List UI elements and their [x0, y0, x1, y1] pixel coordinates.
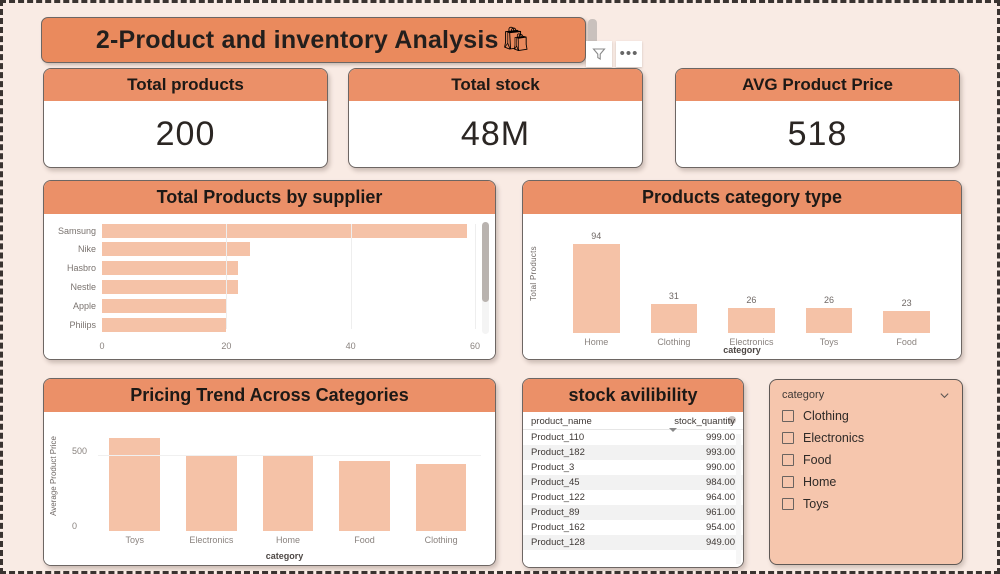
- category-column-value: 23: [883, 298, 930, 308]
- table-rows: Product_110999.00Product_182993.00Produc…: [523, 430, 743, 550]
- category-column[interactable]: 94Home: [573, 244, 620, 333]
- pricing-column[interactable]: Home: [263, 455, 314, 531]
- gridline: [226, 224, 227, 329]
- pricing-column-bar[interactable]: [186, 455, 237, 531]
- pricing-column-bar[interactable]: [339, 461, 390, 532]
- slicer-item-electronics[interactable]: Electronics: [782, 431, 950, 445]
- pricing-column[interactable]: Toys: [109, 438, 160, 531]
- cell-stock-quantity: 949.00: [651, 537, 735, 548]
- x-axis-title: category: [523, 345, 961, 355]
- supplier-bar-fill[interactable]: [102, 224, 467, 238]
- table-row[interactable]: Product_182993.00: [523, 445, 743, 460]
- x-axis-tick: 40: [346, 341, 356, 351]
- cell-stock-quantity: 990.00: [651, 462, 735, 473]
- checkbox-icon[interactable]: [782, 410, 794, 422]
- chart-title: Pricing Trend Across Categories: [44, 379, 495, 412]
- slicer-item-label: Toys: [803, 497, 829, 511]
- supplier-bar-label: Samsung: [58, 226, 96, 236]
- cell-product-name: Product_3: [531, 462, 651, 473]
- supplier-bar-fill[interactable]: [102, 318, 226, 332]
- slicer-item-label: Home: [803, 475, 836, 489]
- x-axis-title: category: [74, 551, 495, 561]
- category-column-bar[interactable]: [651, 304, 698, 333]
- kpi-value: 518: [676, 101, 959, 167]
- table-row[interactable]: Product_110999.00: [523, 430, 743, 445]
- slicer-item-label: Electronics: [803, 431, 864, 445]
- gridline: [475, 224, 476, 329]
- scrollbar-thumb[interactable]: [482, 222, 489, 302]
- supplier-bar-fill[interactable]: [102, 242, 250, 256]
- chevron-down-icon[interactable]: [939, 390, 950, 401]
- supplier-chart-scrollbar[interactable]: [482, 222, 489, 334]
- kpi-value: 48M: [349, 101, 642, 167]
- chart-pricing-trend-across-categories[interactable]: Pricing Trend Across Categories Average …: [43, 378, 496, 566]
- pricing-column-bar[interactable]: [109, 438, 160, 531]
- table-body-area: product_name stock_quantity Product_1109…: [523, 412, 743, 567]
- y-axis-tick: 0: [72, 521, 77, 531]
- slicer-header[interactable]: category: [782, 389, 950, 401]
- pricing-column[interactable]: Food: [339, 461, 390, 532]
- slicer-item-label: Food: [803, 453, 832, 467]
- x-axis-tick: 60: [470, 341, 480, 351]
- pricing-column-label: Food: [327, 535, 402, 545]
- supplier-bar-fill[interactable]: [102, 280, 238, 294]
- kpi-card-avg-product-price[interactable]: AVG Product Price 518: [675, 68, 960, 168]
- category-column[interactable]: 31Clothing: [651, 304, 698, 333]
- y-axis-title: Total Products: [529, 246, 538, 301]
- chart-total-products-by-supplier[interactable]: Total Products by supplier SamsungNikeHa…: [43, 180, 496, 360]
- kpi-card-total-stock[interactable]: Total stock 48M: [348, 68, 643, 168]
- table-header-row: product_name stock_quantity: [523, 412, 743, 430]
- supplier-bar-label: Apple: [73, 301, 96, 311]
- category-column-value: 94: [573, 231, 620, 241]
- pricing-column[interactable]: Electronics: [186, 455, 237, 531]
- supplier-bar-row[interactable]: Nike: [102, 242, 473, 256]
- cell-product-name: Product_110: [531, 432, 651, 443]
- supplier-bar-row[interactable]: Philips: [102, 318, 473, 332]
- shopping-bags-emoji: 🛍: [501, 28, 531, 52]
- cell-stock-quantity: 961.00: [651, 507, 735, 518]
- column-header-product-name[interactable]: product_name: [531, 416, 651, 427]
- category-column-bar[interactable]: [728, 308, 775, 333]
- supplier-bar-label: Hasbro: [67, 263, 96, 273]
- cell-product-name: Product_89: [531, 507, 651, 518]
- category-column-bar[interactable]: [883, 311, 930, 333]
- table-row[interactable]: Product_3990.00: [523, 460, 743, 475]
- report-title-banner[interactable]: 2-Product and inventory Analysis 🛍: [41, 17, 586, 63]
- pricing-column-label: Electronics: [174, 535, 249, 545]
- supplier-bar-label: Nike: [78, 244, 96, 254]
- gridline: [351, 224, 352, 329]
- category-column[interactable]: 26Electronics: [728, 308, 775, 333]
- checkbox-icon[interactable]: [782, 432, 794, 444]
- pricing-columns: ToysElectronicsHomeFoodClothing: [98, 420, 481, 565]
- supplier-bar-label: Nestle: [70, 282, 96, 292]
- x-axis-tick: 20: [221, 341, 231, 351]
- table-stock-availability[interactable]: stock avilibility product_name stock_qua…: [522, 378, 744, 568]
- slicer-item-clothing[interactable]: Clothing: [782, 409, 950, 423]
- supplier-bar-row[interactable]: Samsung: [102, 224, 473, 238]
- page-title: 2-Product and inventory Analysis: [96, 26, 499, 55]
- gridline: [98, 455, 481, 456]
- table-row[interactable]: Product_162954.00: [523, 520, 743, 535]
- supplier-bar-fill[interactable]: [102, 299, 226, 313]
- category-column[interactable]: 23Food: [883, 311, 930, 333]
- cell-product-name: Product_122: [531, 492, 651, 503]
- checkbox-icon[interactable]: [782, 476, 794, 488]
- table-row[interactable]: Product_89961.00: [523, 505, 743, 520]
- supplier-x-axis: 0204060: [44, 341, 495, 353]
- column-header-stock-quantity[interactable]: stock_quantity: [651, 416, 735, 427]
- x-axis-tick: 0: [99, 341, 104, 351]
- category-column-value: 26: [806, 295, 853, 305]
- slicer-item-food[interactable]: Food: [782, 453, 950, 467]
- category-columns: 94Home31Clothing26Electronics26Toys23Foo…: [559, 220, 947, 359]
- supplier-bar-label: Philips: [69, 320, 96, 330]
- checkbox-icon[interactable]: [782, 498, 794, 510]
- more-options-button[interactable]: •••: [616, 41, 642, 67]
- cell-stock-quantity: 993.00: [651, 447, 735, 458]
- slicer-title: category: [782, 389, 824, 401]
- supplier-bars: SamsungNikeHasbroNestleApplePhilips: [102, 222, 473, 335]
- pricing-column-label: Home: [251, 535, 326, 545]
- kpi-label: Total stock: [349, 69, 642, 101]
- column-header-label: stock_quantity: [674, 416, 735, 427]
- chart-title: Total Products by supplier: [44, 181, 495, 214]
- cell-stock-quantity: 954.00: [651, 522, 735, 533]
- slicer-item-home[interactable]: Home: [782, 475, 950, 489]
- category-column-value: 31: [651, 291, 698, 301]
- table-title: stock avilibility: [523, 379, 743, 412]
- table-row[interactable]: Product_128949.00: [523, 535, 743, 550]
- table-row[interactable]: Product_122964.00: [523, 490, 743, 505]
- chart-products-category-type[interactable]: Products category type Total Products 94…: [522, 180, 962, 360]
- supplier-bar-fill[interactable]: [102, 261, 238, 275]
- cell-product-name: Product_182: [531, 447, 651, 458]
- kpi-value: 200: [44, 101, 327, 167]
- filter-button[interactable]: [586, 41, 612, 67]
- cell-product-name: Product_162: [531, 522, 651, 533]
- category-column[interactable]: 26Toys: [806, 308, 853, 333]
- cell-product-name: Product_128: [531, 537, 651, 548]
- chart-plot-area: Average Product Price ToysElectronicsHom…: [44, 412, 495, 565]
- category-column-bar[interactable]: [573, 244, 620, 333]
- chart-plot-area: SamsungNikeHasbroNestleApplePhilips 0204…: [44, 214, 495, 359]
- pricing-column-bar[interactable]: [416, 464, 467, 532]
- y-axis-title: Average Product Price: [49, 436, 58, 516]
- supplier-bar-row[interactable]: Hasbro: [102, 261, 473, 275]
- slicer-category[interactable]: category ClothingElectronicsFoodHomeToys: [769, 379, 963, 565]
- ellipsis-icon: •••: [620, 50, 639, 58]
- category-column-value: 26: [728, 295, 775, 305]
- kpi-card-total-products[interactable]: Total products 200: [43, 68, 328, 168]
- y-axis-tick: 500: [72, 446, 87, 456]
- pricing-column-label: Clothing: [404, 535, 479, 545]
- kpi-label: AVG Product Price: [676, 69, 959, 101]
- kpi-label: Total products: [44, 69, 327, 101]
- slicer-item-list: ClothingElectronicsFoodHomeToys: [782, 409, 950, 511]
- category-column-bar[interactable]: [806, 308, 853, 333]
- cell-product-name: Product_45: [531, 477, 651, 488]
- pricing-column-bar[interactable]: [263, 455, 314, 531]
- table-scrollbar[interactable]: [736, 434, 741, 564]
- slicer-item-label: Clothing: [803, 409, 849, 423]
- supplier-bar-row[interactable]: Apple: [102, 299, 473, 313]
- cell-stock-quantity: 999.00: [651, 432, 735, 443]
- table-row[interactable]: Product_45984.00: [523, 475, 743, 490]
- checkbox-icon[interactable]: [782, 454, 794, 466]
- chart-plot-area: Total Products 94Home31Clothing26Electro…: [523, 214, 961, 359]
- chart-title: Products category type: [523, 181, 961, 214]
- pricing-column[interactable]: Clothing: [416, 464, 467, 532]
- report-canvas: 2-Product and inventory Analysis 🛍 ••• T…: [0, 0, 1000, 574]
- supplier-bar-row[interactable]: Nestle: [102, 280, 473, 294]
- pricing-column-label: Toys: [97, 535, 172, 545]
- filter-funnel-icon: [592, 47, 606, 61]
- sort-descending-icon: [669, 428, 677, 432]
- cell-stock-quantity: 984.00: [651, 477, 735, 488]
- slicer-item-toys[interactable]: Toys: [782, 497, 950, 511]
- cell-stock-quantity: 964.00: [651, 492, 735, 503]
